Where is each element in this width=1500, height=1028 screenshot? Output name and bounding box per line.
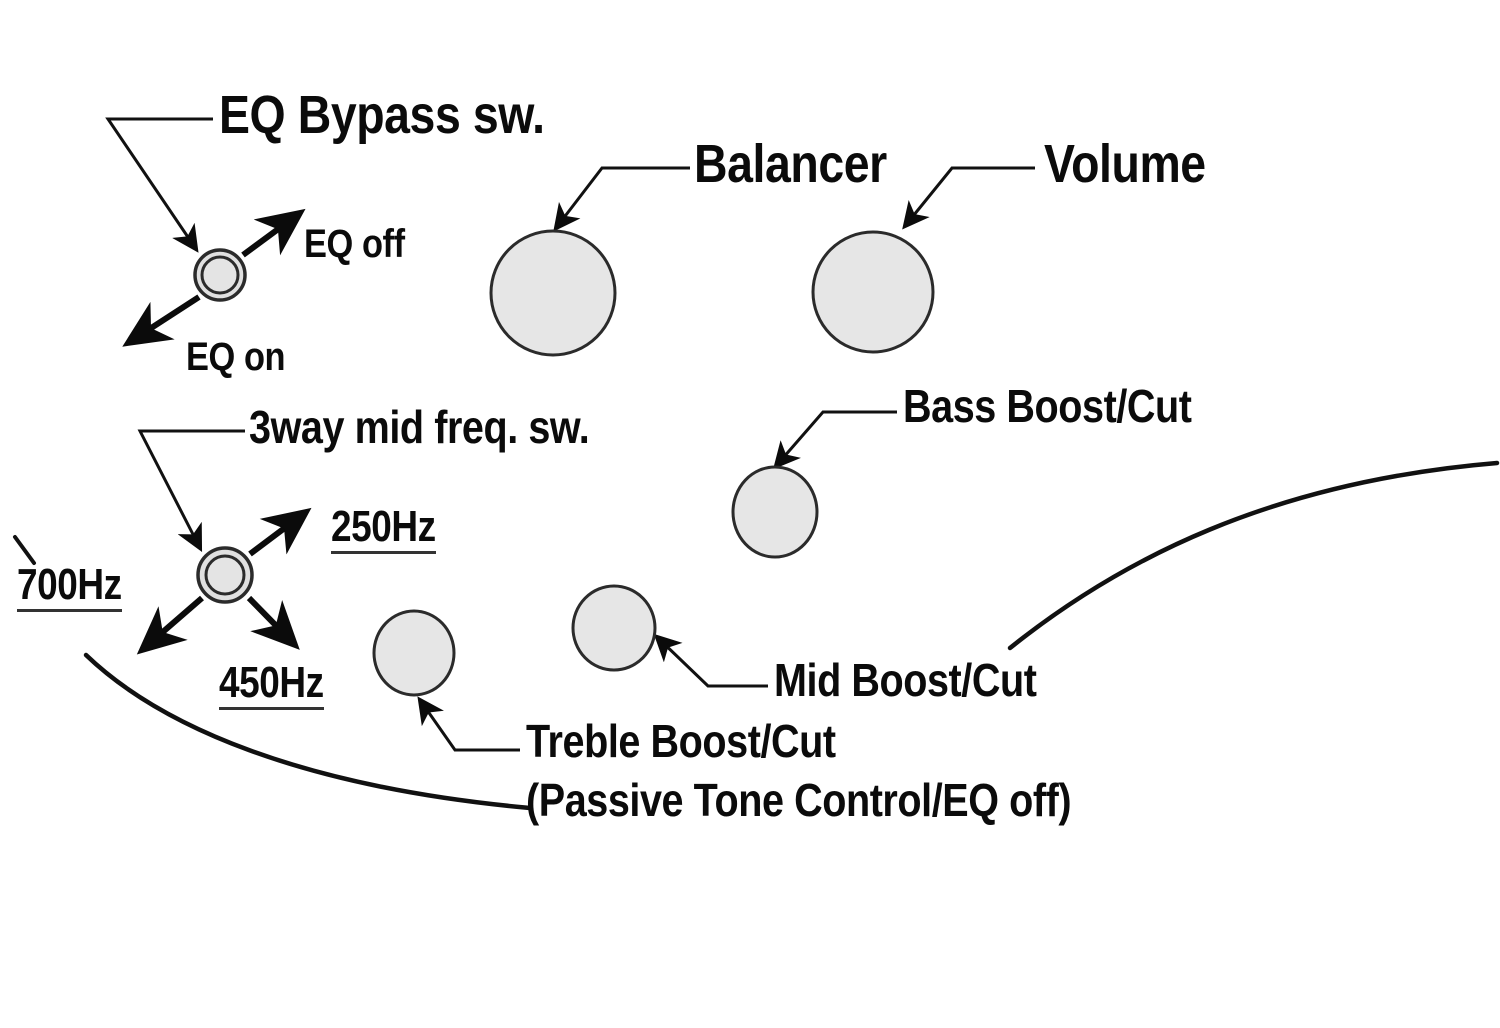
label-volume: Volume xyxy=(1044,137,1206,191)
label-bass-boost-cut: Bass Boost/Cut xyxy=(903,383,1192,429)
body-outline-right xyxy=(1010,463,1497,648)
label-treble-boost-cut: Treble Boost/Cut xyxy=(526,718,836,764)
leader-bass xyxy=(776,412,897,466)
label-freq-250hz: 250Hz xyxy=(331,505,436,554)
arrow-700hz xyxy=(142,598,202,650)
treble-knob[interactable] xyxy=(374,611,454,695)
leader-mid-freq-sw xyxy=(140,431,245,548)
leader-treble xyxy=(420,700,520,750)
volume-knob[interactable] xyxy=(813,232,933,352)
bass-knob[interactable] xyxy=(733,467,817,557)
mid-freq-switch-inner[interactable] xyxy=(206,556,244,594)
control-layout-diagram: EQ Bypass sw. EQ off EQ on Balancer Volu… xyxy=(0,0,1500,1028)
leader-balancer xyxy=(556,168,690,228)
arrow-eq-off xyxy=(243,213,300,255)
label-3way-mid-freq-sw: 3way mid freq. sw. xyxy=(249,404,589,450)
eq-bypass-switch-inner[interactable] xyxy=(202,257,238,293)
label-eq-bypass-sw: EQ Bypass sw. xyxy=(219,88,545,142)
arrow-250hz xyxy=(250,512,306,554)
label-freq-450hz: 450Hz xyxy=(219,661,324,710)
label-balancer: Balancer xyxy=(694,137,887,191)
label-passive-tone-note: (Passive Tone Control/EQ off) xyxy=(526,777,1071,823)
mid-knob[interactable] xyxy=(573,586,655,670)
arrow-450hz xyxy=(249,598,295,645)
balancer-knob[interactable] xyxy=(491,231,615,355)
label-eq-off: EQ off xyxy=(304,224,405,264)
leader-eq-bypass-sw xyxy=(108,119,213,249)
leader-mid xyxy=(657,637,768,686)
label-eq-on: EQ on xyxy=(186,337,285,377)
label-freq-700hz: 700Hz xyxy=(17,563,122,612)
label-mid-boost-cut: Mid Boost/Cut xyxy=(774,657,1036,703)
leader-volume xyxy=(905,168,1035,226)
